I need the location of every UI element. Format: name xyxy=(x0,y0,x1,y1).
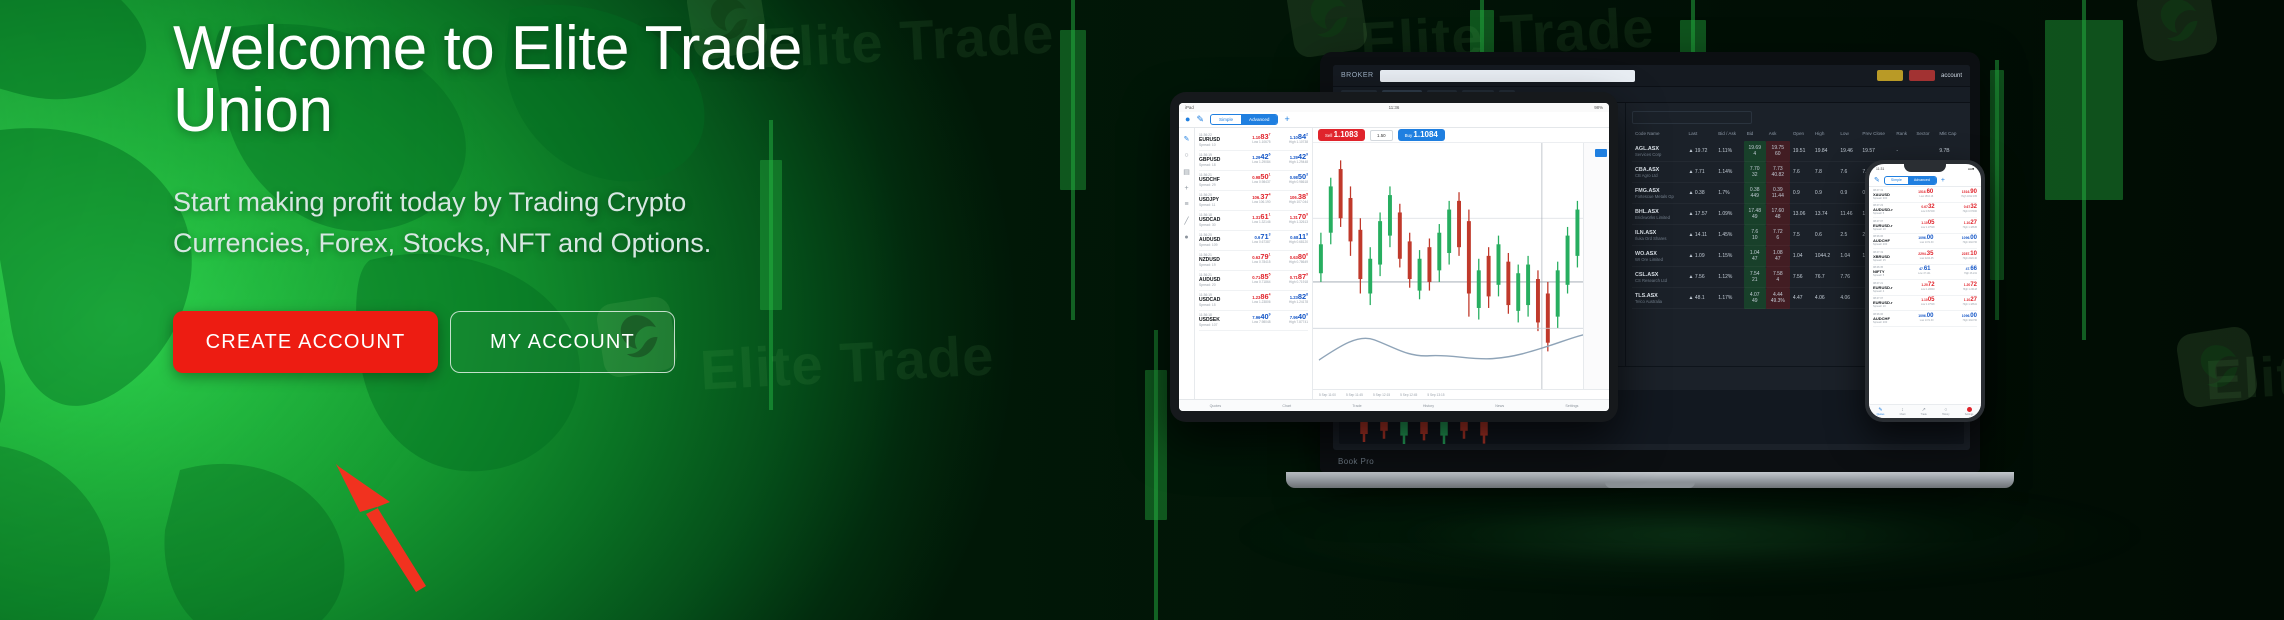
tablet-tabbar[interactable]: QuotesChartTradeHistoryNewsSettings xyxy=(1179,399,1609,411)
quote-ask: 0.71879 xyxy=(1275,273,1308,280)
tab-trade[interactable]: Trade xyxy=(1352,404,1361,408)
cell-ask: 7.7340.82 xyxy=(1766,162,1790,183)
tablet-quotes-list[interactable]: 11:36:22EURUSDSpread: 101.10837Low 1.106… xyxy=(1195,128,1313,399)
quote-symbol-block: 08:47:21EURUSD.rSpread: 4 xyxy=(1873,282,1893,293)
quote-ask-block: 1.23828High 1.24178 xyxy=(1275,293,1308,307)
cell-last: ▲ 7.71 xyxy=(1686,162,1716,183)
quote-spread: Spread: 10 xyxy=(1873,228,1893,231)
tablet-candlestick-chart xyxy=(1313,143,1609,389)
tablet-status-center: 11:36 xyxy=(1389,105,1400,110)
tablet-seg-simple[interactable]: Simple xyxy=(1211,115,1241,124)
table-column-header: Prev Close xyxy=(1859,131,1893,141)
quote-symbol: AUDCHF xyxy=(1873,316,1890,321)
quote-spread: Spread: 200 xyxy=(1873,243,1890,246)
table-column-header: Ask xyxy=(1766,131,1790,141)
quote-symbol-block: 11:36:21AUDUSDSpread: 20 xyxy=(1199,273,1233,287)
table-column-header: Bid xyxy=(1744,131,1766,141)
phone-tab-label: Settings xyxy=(1965,413,1974,416)
quote-bid-block: 1516.60Low 1510.16 xyxy=(1918,189,1933,200)
quotes-icon[interactable]: ✎ xyxy=(1184,135,1190,143)
quote-bid: 0.63791 xyxy=(1238,253,1271,260)
page-title: Welcome to Elite Trade Union xyxy=(173,18,873,142)
phone-tab-trade[interactable]: ↗Trade xyxy=(1921,407,1927,416)
buy-value: 1.1084 xyxy=(1413,130,1437,139)
quote-symbol-block: 11:36:18USDCADSpread: 30 xyxy=(1199,213,1233,227)
laptop-status-pill-buy[interactable] xyxy=(1877,70,1903,81)
phone-tabbar[interactable]: ✎Quotes↕Chart↗Trade○History⚙Settings xyxy=(1869,404,1981,418)
quote-bid-block: 1096.00Low 1471.30 xyxy=(1918,235,1933,246)
cell-low: 4.06 xyxy=(1837,288,1859,309)
tab-news[interactable]: News xyxy=(1495,404,1504,408)
cell-bid: 7.610 xyxy=(1744,225,1766,246)
quote-ask-block: 0.98503High 0.98618 xyxy=(1275,173,1308,187)
quote-bid-block: 1.1005Low 1.17518 xyxy=(1921,220,1935,231)
quote-high: High 7.87741 xyxy=(1275,320,1308,324)
table-column-header: Rank xyxy=(1893,131,1913,141)
cell-ask: 7.584 xyxy=(1766,267,1790,288)
hero-banner: Elite Trade Elite Trade Elite Trade Elit… xyxy=(0,0,2284,620)
phone-tab-quotes[interactable]: ✎Quotes xyxy=(1877,407,1885,416)
quote-bid-block: 7.96409Low 7.98048 xyxy=(1238,313,1271,327)
laptop-topbar: BROKER account xyxy=(1333,65,1970,87)
cell-cap: 9.7B xyxy=(1936,141,1964,162)
quote-ask: 7.96409 xyxy=(1275,313,1308,320)
cell-high: 0.6 xyxy=(1812,225,1837,246)
phone-seg-advanced[interactable]: Advanced xyxy=(1908,177,1936,184)
table-column-header: Code Name xyxy=(1632,131,1686,141)
laptop-account-label: account xyxy=(1941,73,1962,79)
quote-spread: Spread: 107 xyxy=(1199,323,1233,327)
cell-bid: 19.694 xyxy=(1744,141,1766,162)
quote-ask-block: 0.63806High 0.78649 xyxy=(1275,253,1308,267)
quote-ask-block: 1.1027High 1.18641 xyxy=(1963,297,1977,308)
create-account-button[interactable]: CREATE ACCOUNT xyxy=(173,311,438,373)
phone-notification-badge xyxy=(1967,407,1972,412)
quote-symbol-block: 08:36:06AUDCHFSpread: 200 xyxy=(1873,313,1890,324)
list-item[interactable]: 08:47:19XAUUSDSpread: 3001516.60Low 1510… xyxy=(1873,187,1977,203)
cell-low: 2.5 xyxy=(1837,225,1859,246)
person-icon[interactable]: ● xyxy=(1185,115,1190,124)
cell-ask: 1.0847 xyxy=(1766,246,1790,267)
phone-tab-label: Trade xyxy=(1921,413,1927,416)
cell-ask: 4.4449.3% xyxy=(1766,288,1790,309)
list-item[interactable]: 08:36:06AUDCHFSpread: 2001096.00Low 1471… xyxy=(1873,311,1977,327)
table-column-header: Sector xyxy=(1913,131,1936,141)
sell-label: Sell xyxy=(1325,133,1332,138)
cell-bid: 0.38449 xyxy=(1744,183,1766,204)
cell-high: 0.9 xyxy=(1812,183,1837,204)
list-item[interactable]: 11:36:20USDJPYSpread: 11106.374Low 106.1… xyxy=(1199,191,1308,211)
laptop-status-pill-sell[interactable] xyxy=(1909,70,1935,81)
quote-bid-block: 1.29426Low 1.29084 xyxy=(1238,153,1271,167)
cell-open: 0.9 xyxy=(1790,183,1812,204)
cell-symbol: ILN.ASXIluka Ord Shares xyxy=(1632,225,1686,246)
bg-candle xyxy=(1145,330,1167,620)
hero-copy: Welcome to Elite Trade Union Start makin… xyxy=(173,18,873,373)
cell-open: 19.51 xyxy=(1790,141,1812,162)
quote-symbol: XBRUSD xyxy=(1873,254,1890,259)
quote-bid: 7.96409 xyxy=(1238,313,1271,320)
quote-low: Low 1.29084 xyxy=(1238,160,1271,164)
cell-low: 7.76 xyxy=(1837,267,1859,288)
cell-open: 13.06 xyxy=(1790,204,1812,225)
list-item[interactable]: 11:36:20AUDUSDSpread: 1090.6713Low 0.673… xyxy=(1199,231,1308,251)
quote-symbol-block: 11:36:22EURUSDSpread: 10 xyxy=(1199,133,1233,147)
tablet-statusbar: iPad 11:36 98% xyxy=(1179,103,1609,112)
quote-high: High 0.78649 xyxy=(1275,260,1308,264)
quote-spread: Spread: 5 xyxy=(1873,212,1893,215)
quote-low: Low 1.23806 xyxy=(1238,300,1271,304)
list-item[interactable]: 11:36:21USDCHFSpread: 290.98501Low 0.984… xyxy=(1199,171,1308,191)
quote-bid: 2294.35 xyxy=(1918,251,1933,257)
chart-icon[interactable]: ▤ xyxy=(1183,168,1190,176)
pencil-icon[interactable]: ✎ xyxy=(1196,115,1204,124)
cell-low: 1.04 xyxy=(1837,246,1859,267)
cell-symbol: TLS.ASXTelco Australia xyxy=(1632,288,1686,309)
cell-symbol: FMG.ASXFortescue Metals Gp xyxy=(1632,183,1686,204)
axis-tick-label: 5 Sep 11:00 xyxy=(1319,393,1336,397)
tablet-main: ✎ ○ ▤ + ≡ ╱ ● 11:36:22EURUSDSpread: 101.… xyxy=(1179,128,1609,399)
cell-bid: 7.5421 xyxy=(1744,267,1766,288)
quote-bid: 1.23864 xyxy=(1238,293,1271,300)
tablet-chart-price-axis xyxy=(1583,143,1609,389)
cell-sector xyxy=(1913,141,1936,162)
tablet-chart-time-axis: 5 Sep 11:005 Sep 11:455 Sep 12:155 Sep 1… xyxy=(1313,389,1609,399)
quote-bid: 1516.60 xyxy=(1918,189,1933,195)
quote-low: Low 0.98437 xyxy=(1238,180,1271,184)
list-item[interactable]: 11:36:19USDCADSpread: 151.23864Low 1.238… xyxy=(1199,291,1308,311)
quote-low: Low 1510.16 xyxy=(1918,195,1933,198)
tablet-seg-advanced[interactable]: Advanced xyxy=(1241,115,1277,124)
tab-history[interactable]: History xyxy=(1423,404,1434,408)
quote-bid-block: 106.374Low 106.190 xyxy=(1238,193,1271,207)
quote-symbol-block: 11:36:20USDJPYSpread: 11 xyxy=(1199,193,1233,207)
quote-bid-block: 0.6732Low 0.67200 xyxy=(1921,204,1935,215)
list-item[interactable]: 11:36:18USDSEKSpread: 1077.96409Low 7.98… xyxy=(1199,311,1308,331)
lot-size-input[interactable]: 1.50 xyxy=(1370,130,1393,141)
cell-open: 7.6 xyxy=(1790,162,1812,183)
add-icon[interactable]: + xyxy=(1184,185,1188,192)
quote-low: Low 47.141 xyxy=(1918,272,1930,275)
quote-high: High 0.68120 xyxy=(1275,240,1308,244)
list-item[interactable]: 08:46:35NIFTYSpread: 547.61Low 47.14147.… xyxy=(1873,265,1977,281)
phone-seg-simple[interactable]: Simple xyxy=(1885,177,1908,184)
tools-icon[interactable]: ╱ xyxy=(1184,217,1188,225)
quote-spread: Spread: 4 xyxy=(1873,290,1893,293)
cell-open: 4.47 xyxy=(1790,288,1812,309)
cell-last: ▲ 14.11 xyxy=(1686,225,1716,246)
list-icon[interactable]: ≡ xyxy=(1184,201,1188,208)
tablet-screen: iPad 11:36 98% ● ✎ Simple Advanced + ✎ xyxy=(1179,103,1609,411)
quote-bid: 0.71855 xyxy=(1238,273,1271,280)
quote-symbol: EURUSD.r xyxy=(1873,285,1893,290)
cell-change: 1.11% xyxy=(1715,141,1743,162)
cell-bid: 1.0447 xyxy=(1744,246,1766,267)
cell-ask: 0.3911.44 xyxy=(1766,183,1790,204)
quote-ask-block: 0.71879High 0.71918 xyxy=(1275,273,1308,287)
table-column-header: Low xyxy=(1837,131,1859,141)
table-column-header: Last xyxy=(1686,131,1716,141)
my-account-button[interactable]: MY ACCOUNT xyxy=(450,311,675,373)
quote-high: High 1.24178 xyxy=(1275,300,1308,304)
quote-low: Low 0.71864 xyxy=(1238,280,1271,284)
table-row[interactable]: AGL.ASXServices Corp▲ 19.721.11%19.69419… xyxy=(1632,141,1964,162)
tablet-sidebar-rail: ✎ ○ ▤ + ≡ ╱ ● xyxy=(1179,128,1195,399)
list-item[interactable]: 08:36:06AUDCHFSpread: 2001096.00Low 1471… xyxy=(1873,234,1977,250)
hero-subtitle: Start making profit today by Trading Cry… xyxy=(173,182,733,263)
cell-ask: 19.7560 xyxy=(1766,141,1790,162)
quote-low: Low 1.10675 xyxy=(1238,140,1271,144)
quote-ask: 1.23828 xyxy=(1275,293,1308,300)
quote-high: High 2220.40 xyxy=(1962,257,1977,260)
cell-low: 0.9 xyxy=(1837,183,1859,204)
quote-symbol-block: 11:36:18USDSEKSpread: 107 xyxy=(1199,313,1233,327)
list-item[interactable]: 11:36:18USDCADSpread: 301.31611Low 1.321… xyxy=(1199,211,1308,231)
quote-spread: Spread: 109 xyxy=(1199,243,1233,247)
quote-bid: 106.374 xyxy=(1238,193,1271,200)
phone-status-time: 11:31 xyxy=(1876,167,1884,171)
table-column-header: Bid / Ask xyxy=(1715,131,1743,141)
cell-symbol: BHL.ASXBrickworks Limited xyxy=(1632,204,1686,225)
cell-symbol: CSL.ASXCS Research Ltd xyxy=(1632,267,1686,288)
quote-ask-block: 1.31709High 1.32613 xyxy=(1275,213,1308,227)
quote-ask: 1096.00 xyxy=(1962,313,1977,319)
quote-bid-block: 1.10837Low 1.10675 xyxy=(1238,133,1271,147)
axis-tick-label: 5 Sep 11:45 xyxy=(1346,393,1363,397)
table-column-header: High xyxy=(1812,131,1837,141)
quote-high: High 1.18645 xyxy=(1963,226,1977,229)
quote-bid: 1096.00 xyxy=(1918,313,1933,319)
list-item[interactable]: 08:47:07EURUSD.rSpread: 101.1005Low 1.17… xyxy=(1873,296,1977,312)
quote-spread: Spread: 15 xyxy=(1199,303,1233,307)
quote-low: Low 2224.45 xyxy=(1918,257,1933,260)
laptop-search-input[interactable] xyxy=(1380,70,1635,82)
quote-bid-block: 1.1005Low 1.17518 xyxy=(1921,297,1935,308)
tab-chart[interactable]: Chart xyxy=(1282,404,1291,408)
quote-ask: 0.68119 xyxy=(1275,233,1308,240)
quote-low: Low 1.20640 xyxy=(1921,288,1935,291)
cell-last: ▲ 0.38 xyxy=(1686,183,1716,204)
quote-high: High 1.32613 xyxy=(1275,220,1308,224)
quote-ask-block: 0.68119High 0.68120 xyxy=(1275,233,1308,247)
quote-bid-block: 0.71855Low 0.71864 xyxy=(1238,273,1271,287)
quote-ask-block: 1096.00High 1022.50 xyxy=(1962,313,1977,324)
plus-icon[interactable]: + xyxy=(1941,177,1945,184)
list-item[interactable]: 11:36:21NZDUSDSpread: 190.63791Low 0.784… xyxy=(1199,251,1308,271)
phone-notch xyxy=(1904,164,1946,172)
quote-low: Low 1.17518 xyxy=(1921,303,1935,306)
quote-ask-block: 2287.10High 2220.40 xyxy=(1962,251,1977,262)
quote-ask: 1.1027 xyxy=(1963,220,1977,226)
cell-symbol: WO.ASXWI Ore Limited xyxy=(1632,246,1686,267)
quote-symbol-block: 11:36:21USDCHFSpread: 29 xyxy=(1199,173,1233,187)
cell-high: 7.8 xyxy=(1812,162,1837,183)
quote-symbol-block: 08:47:07EURUSD.rSpread: 10 xyxy=(1873,297,1893,308)
quote-low: Low 0.78415 xyxy=(1238,260,1271,264)
tablet-status-right: 98% xyxy=(1594,105,1603,110)
quote-low: Low 0.67387 xyxy=(1238,240,1271,244)
table-column-header: Open xyxy=(1790,131,1812,141)
quote-high: High 1.29448 xyxy=(1275,160,1308,164)
cell-high: 4.06 xyxy=(1812,288,1837,309)
cell-low: 7.6 xyxy=(1837,162,1859,183)
quote-symbol-block: 11:36:21NZDUSDSpread: 19 xyxy=(1199,253,1233,267)
chat-icon[interactable]: ○ xyxy=(1184,152,1188,159)
laptop-brand-logo: BROKER xyxy=(1341,72,1374,79)
quote-symbol-block: 08:47:07EURUSD.rSpread: 10 xyxy=(1873,220,1893,231)
cell-change: 1.17% xyxy=(1715,288,1743,309)
quote-bid-block: 0.6713Low 0.67387 xyxy=(1238,233,1271,247)
quote-bid-block: 1.23864Low 1.23806 xyxy=(1238,293,1271,307)
quote-ask: 1.29429 xyxy=(1275,153,1308,160)
quote-ask: 1516.90 xyxy=(1961,189,1977,195)
bg-candle xyxy=(1060,0,1086,320)
phone-status-icons: ●●■ xyxy=(1968,167,1974,171)
phone-tab-history[interactable]: ○History xyxy=(1942,407,1949,416)
quote-ask-block: 7.96409High 7.87741 xyxy=(1275,313,1308,327)
tab-quotes[interactable]: Quotes xyxy=(1210,404,1222,408)
pencil-icon[interactable]: ✎ xyxy=(1874,176,1880,184)
tab-settings[interactable]: Settings xyxy=(1565,404,1578,408)
cell-high: 76.7 xyxy=(1812,267,1837,288)
quote-spread: Spread: 19 xyxy=(1199,263,1233,267)
quote-symbol-block: 11:36:20AUDUSDSpread: 109 xyxy=(1199,233,1233,247)
quote-ask: 1.2072 xyxy=(1963,282,1977,288)
tablet-view-segmented-control[interactable]: Simple Advanced xyxy=(1210,114,1278,125)
quote-bid-block: 2294.35Low 2224.45 xyxy=(1918,251,1933,262)
phone-toolbar: ✎ Simple Advanced + xyxy=(1869,174,1981,187)
hero-cta-row: CREATE ACCOUNT MY ACCOUNT xyxy=(173,311,873,373)
phone-view-segmented-control[interactable]: Simple Advanced xyxy=(1884,176,1937,185)
quote-bid: 1.2072 xyxy=(1921,282,1935,288)
cell-rank: - xyxy=(1893,141,1913,162)
cell-bid: 4.0749 xyxy=(1744,288,1766,309)
device-mockup-group: BROKER account xyxy=(1180,0,2284,620)
list-item[interactable]: 11:36:21AUDUSDSpread: 200.71855Low 0.718… xyxy=(1199,271,1308,291)
quote-high: High 107.044 xyxy=(1275,200,1308,204)
tablet-chart-panel: Sell 1.1083 1.50 Buy 1.1084 xyxy=(1313,128,1609,399)
plus-icon[interactable]: + xyxy=(1284,115,1289,124)
cell-change: 1.09% xyxy=(1715,204,1743,225)
cell-change: 1.7% xyxy=(1715,183,1743,204)
tablet-mockup: iPad 11:36 98% ● ✎ Simple Advanced + ✎ xyxy=(1170,92,1618,422)
cell-change: 1.14% xyxy=(1715,162,1743,183)
laptop-results-header xyxy=(1632,111,1752,124)
tablet-chart-marker xyxy=(1595,149,1607,157)
quote-ask-block: 1096.00High 1022.50 xyxy=(1962,235,1977,246)
quote-ask-block: 1.10842High 1.10738 xyxy=(1275,133,1308,147)
phone-tab-label: Chart xyxy=(1900,413,1906,416)
cell-change: 1.12% xyxy=(1715,267,1743,288)
cell-prev: 19.57 xyxy=(1859,141,1893,162)
list-item[interactable]: 08:47:23AUDUSD.rSpread: 50.6732Low 0.672… xyxy=(1873,203,1977,219)
quote-symbol-block: 08:47:19XAUUSDSpread: 300 xyxy=(1873,189,1890,200)
phone-tab-label: History xyxy=(1942,413,1949,416)
quote-spread: Spread: 200 xyxy=(1873,321,1890,324)
phone-quotes-list[interactable]: 08:47:19XAUUSDSpread: 3001516.60Low 1510… xyxy=(1869,187,1981,404)
buy-price-tag[interactable]: Buy 1.1084 xyxy=(1398,129,1445,142)
cell-change: 1.45% xyxy=(1715,225,1743,246)
list-item[interactable]: 11:36:19GBPUSDSpread: 181.29426Low 1.290… xyxy=(1199,151,1308,171)
quote-bid-block: 47.61Low 47.141 xyxy=(1918,266,1930,277)
list-item[interactable]: 11:36:22EURUSDSpread: 101.10837Low 1.106… xyxy=(1199,131,1308,151)
quote-symbol-block: 08:36:06AUDCHFSpread: 200 xyxy=(1873,235,1890,246)
quote-ask-block: 47.66High 46.241 xyxy=(1964,266,1977,277)
cell-high: 19.84 xyxy=(1812,141,1837,162)
sell-price-tag[interactable]: Sell 1.1083 xyxy=(1318,129,1365,142)
quote-ask-block: 0.6732High 0.67460 xyxy=(1963,204,1977,215)
cell-last: ▲ 19.72 xyxy=(1686,141,1716,162)
quote-spread: Spread: 11 xyxy=(1199,203,1233,207)
list-item[interactable]: 08:47:21EURUSD.rSpread: 41.2072Low 1.206… xyxy=(1873,280,1977,296)
phone-screen: 11:31 ●●■ ✎ Simple Advanced + 08:47:19XA… xyxy=(1869,164,1981,418)
quote-ask: 1.31709 xyxy=(1275,213,1308,220)
cell-open: 7.56 xyxy=(1790,267,1812,288)
quote-spread: Spread: 10 xyxy=(1873,305,1893,308)
cell-high: 13.74 xyxy=(1812,204,1837,225)
cell-last: ▲ 7.56 xyxy=(1686,267,1716,288)
cell-bid: 17.4849 xyxy=(1744,204,1766,225)
laptop-brand-text: Book Pro xyxy=(1338,457,1374,466)
tablet-chart-toolbar: Sell 1.1083 1.50 Buy 1.1084 xyxy=(1313,128,1609,143)
quote-spread: Spread: 300 xyxy=(1873,197,1890,200)
quote-spread: Spread: 20 xyxy=(1199,283,1233,287)
quote-low: Low 1.32146 xyxy=(1238,220,1271,224)
axis-tick-label: 5 Sep 12:15 xyxy=(1373,393,1390,397)
quote-bid-block: 1.31611Low 1.32146 xyxy=(1238,213,1271,227)
quote-low: Low 1471.30 xyxy=(1918,241,1933,244)
quote-high: High 1.10738 xyxy=(1275,140,1308,144)
phone-tab-chart[interactable]: ↕Chart xyxy=(1900,407,1906,416)
quote-spread: Spread: 15 xyxy=(1873,259,1890,262)
quote-symbol: XAUUSD xyxy=(1873,192,1890,197)
quote-spread: Spread: 5 xyxy=(1873,274,1885,277)
cell-symbol: AGL.ASXServices Corp xyxy=(1632,141,1686,162)
share-icon[interactable]: ● xyxy=(1184,234,1188,241)
quote-spread: Spread: 30 xyxy=(1199,223,1233,227)
list-item[interactable]: 08:47:07EURUSD.rSpread: 101.1005Low 1.17… xyxy=(1873,218,1977,234)
quote-high: High 0.71918 xyxy=(1275,280,1308,284)
tablet-status-left: iPad xyxy=(1185,105,1194,110)
quote-symbol-block: 11:36:19GBPUSDSpread: 18 xyxy=(1199,153,1233,167)
list-item[interactable]: 08:47:19XBRUSDSpread: 152294.35Low 2224.… xyxy=(1873,249,1977,265)
quote-symbol-block: 08:46:35NIFTYSpread: 5 xyxy=(1873,266,1885,277)
cell-change: 1.15% xyxy=(1715,246,1743,267)
table-header-row: Code NameLastBid / AskBidAskOpenHighLowP… xyxy=(1632,131,1964,141)
axis-tick-label: 5 Sep 13:15 xyxy=(1427,393,1444,397)
cell-open: 1.04 xyxy=(1790,246,1812,267)
quote-ask-block: 1.29429High 1.29448 xyxy=(1275,153,1308,167)
phone-tab-label: Quotes xyxy=(1877,413,1885,416)
quote-ask-block: 106.385High 107.044 xyxy=(1275,193,1308,207)
quote-symbol-block: 11:36:19USDCADSpread: 15 xyxy=(1199,293,1233,307)
quote-high: High 1.18641 xyxy=(1963,303,1977,306)
quote-high: High 1.20118 xyxy=(1963,288,1977,291)
quote-ask: 0.63806 xyxy=(1275,253,1308,260)
quote-bid: 1.10837 xyxy=(1238,133,1271,140)
cell-low: 11.46 xyxy=(1837,204,1859,225)
quote-spread: Spread: 29 xyxy=(1199,183,1233,187)
quote-high: High 0.98618 xyxy=(1275,180,1308,184)
quote-high: High 1812.165 xyxy=(1961,195,1977,198)
quote-bid: 1.31611 xyxy=(1238,213,1271,220)
buy-label: Buy xyxy=(1405,133,1413,138)
cell-last: ▲ 48.1 xyxy=(1686,288,1716,309)
cell-ask: 17.6048 xyxy=(1766,204,1790,225)
quote-low: Low 0.67200 xyxy=(1921,210,1935,213)
cell-bid: 7.7032 xyxy=(1744,162,1766,183)
axis-tick-label: 5 Sep 12:45 xyxy=(1400,393,1417,397)
